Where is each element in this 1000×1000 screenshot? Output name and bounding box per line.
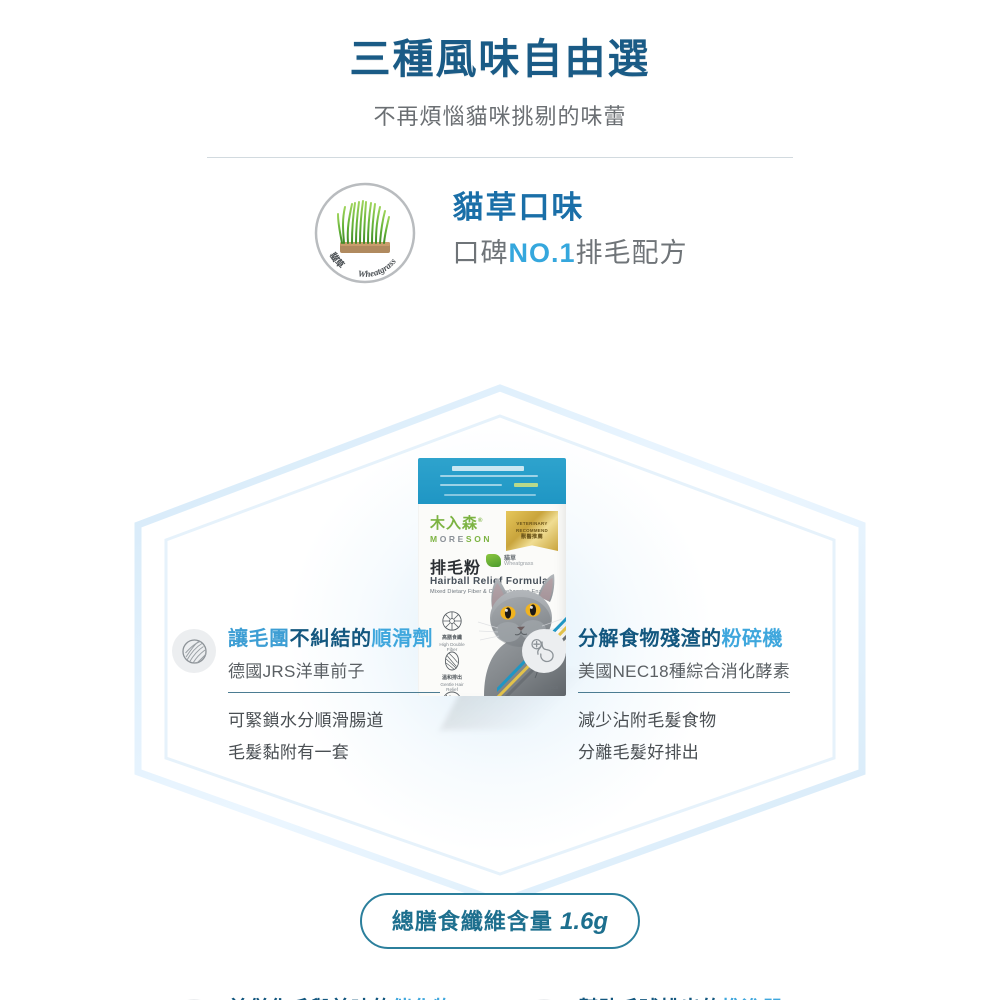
feature-line-1-2: 毛髮黏附有一套 — [228, 737, 502, 768]
flavor-name: 貓草口味 — [452, 191, 687, 225]
flavor-tag-before: 口碑 — [452, 238, 508, 268]
package-top-panel — [418, 458, 566, 504]
feature-subtitle-2: 美國NEC18種綜合消化酵素 — [578, 657, 852, 682]
feature-item-2: 分解食物殘渣的粉碎機 美國NEC18種綜合消化酵素 減少沾附毛髮食物 分離毛髮好… — [522, 627, 852, 768]
flavor-text-block: 貓草口味 口碑NO.1排毛配方 — [452, 191, 687, 276]
wheatgrass-icon: 貓草 Wheatgrass — [312, 180, 418, 286]
header-divider — [207, 157, 793, 158]
veterinary-recommend-seal: VETERINARY RECOMMEND 獸醫推薦 — [506, 511, 558, 551]
wheatgrass-badge: 貓草 Wheatgrass — [312, 180, 418, 286]
feature-title-part-c: 順滑劑 — [372, 628, 434, 650]
feature-item-1: 讓毛團不糾結的順滑劑 德國JRS洋車前子 可緊鎖水分順滑腸道 毛髮黏附有一套 — [172, 627, 502, 768]
feature-subtitle-1: 德國JRS洋車前子 — [228, 657, 502, 682]
product-name-cn: 排毛粉 — [430, 554, 481, 578]
feature-title-part-b: 不糾結的 — [290, 628, 372, 650]
seal-line-1: VETERINARY — [516, 521, 547, 527]
page-title: 三種風味自由選 — [0, 36, 1000, 83]
fiber-total-wrap: 總膳食纖維含量 1.6g — [0, 893, 1000, 949]
feature-title-1: 讓毛團不糾結的順滑劑 — [228, 627, 502, 652]
total-fiber-label: 總膳食纖維含量 — [392, 909, 553, 934]
page-subtitle: 不再煩惱貓咪挑剔的味蕾 — [0, 99, 1000, 131]
feature-title-part-c: 粉碎機 — [722, 628, 784, 650]
brand-name-cn: 木入森® — [430, 516, 483, 531]
feature-title-part-a: 讓毛團 — [228, 628, 290, 650]
feature-line-2-1: 減少沾附毛髮食物 — [578, 705, 852, 736]
brand-name-en: MORESON — [430, 534, 492, 544]
feature-body-2: 分解食物殘渣的粉碎機 美國NEC18種綜合消化酵素 減少沾附毛髮食物 分離毛髮好… — [578, 627, 852, 768]
stomach-plus-icon — [522, 629, 566, 673]
flavor-row: 貓草 Wheatgrass 貓草口味 口碑NO.1排毛配方 — [0, 180, 1000, 286]
fiber-husk-icon — [172, 629, 216, 673]
flavor-tag-after: 排毛配方 — [576, 238, 688, 268]
seal-line-3: 獸醫推薦 — [521, 534, 543, 541]
feature-title-2: 分解食物殘渣的粉碎機 — [578, 627, 852, 652]
feature-line-2-2: 分離毛髮好排出 — [578, 737, 852, 768]
feature-divider-2 — [578, 692, 790, 693]
feature-line-1-1: 可緊鎖水分順滑腸道 — [228, 705, 502, 736]
total-fiber-badge: 總膳食纖維含量 1.6g — [360, 893, 640, 949]
feature-title-part-a: 分解食物殘渣的 — [578, 628, 722, 650]
total-fiber-value: 1.6g — [560, 908, 608, 935]
header: 三種風味自由選 不再煩惱貓咪挑剔的味蕾 — [0, 0, 1000, 158]
seal-line-2: RECOMMEND — [516, 528, 548, 534]
feature-body-1: 讓毛團不糾結的順滑劑 德國JRS洋車前子 可緊鎖水分順滑腸道 毛髮黏附有一套 — [228, 627, 502, 768]
flavor-tagline: 口碑NO.1排毛配方 — [452, 231, 687, 270]
feature-divider-1 — [228, 692, 440, 693]
infographic-page: 三種風味自由選 不再煩惱貓咪挑剔的味蕾 — [0, 0, 1000, 1000]
flavor-tag-highlight: NO.1 — [508, 238, 575, 268]
